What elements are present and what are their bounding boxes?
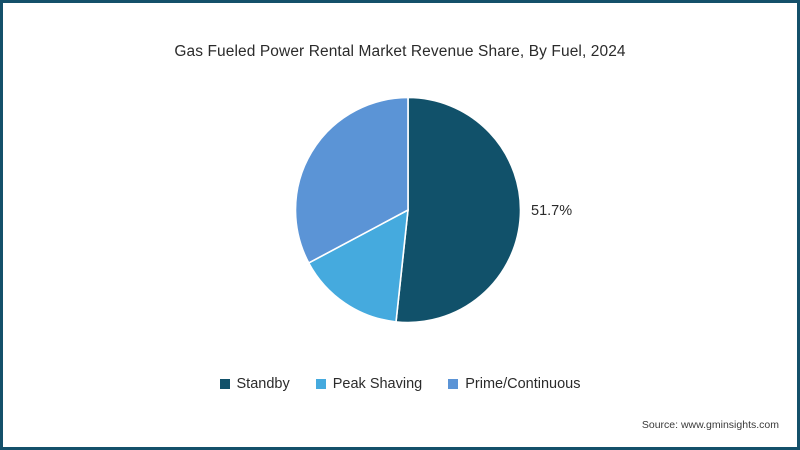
legend-item-label: Peak Shaving <box>333 377 422 392</box>
legend-swatch-icon <box>316 379 326 389</box>
pie-slice-group <box>296 98 521 323</box>
legend-item-label: Standby <box>237 377 290 392</box>
legend-item-label: Prime/Continuous <box>465 377 580 392</box>
legend-item-peak-shaving[interactable]: Peak Shaving <box>316 377 422 392</box>
legend-item-prime-continuous[interactable]: Prime/Continuous <box>448 377 580 392</box>
pie-chart <box>295 97 521 323</box>
pie-data-label-standby: 51.7% <box>531 203 572 219</box>
legend-item-standby[interactable]: Standby <box>220 377 290 392</box>
pie-chart-svg <box>295 97 521 323</box>
chart-canvas: Gas Fueled Power Rental Market Revenue S… <box>3 3 797 447</box>
source-attribution: Source: www.gminsights.com <box>642 419 779 431</box>
chart-legend: StandbyPeak ShavingPrime/Continuous <box>3 377 797 392</box>
page-title: Gas Fueled Power Rental Market Revenue S… <box>3 43 797 61</box>
pie-slice-standby[interactable] <box>396 98 520 323</box>
legend-swatch-icon <box>448 379 458 389</box>
legend-swatch-icon <box>220 379 230 389</box>
chart-screenshot: Gas Fueled Power Rental Market Revenue S… <box>0 0 800 450</box>
